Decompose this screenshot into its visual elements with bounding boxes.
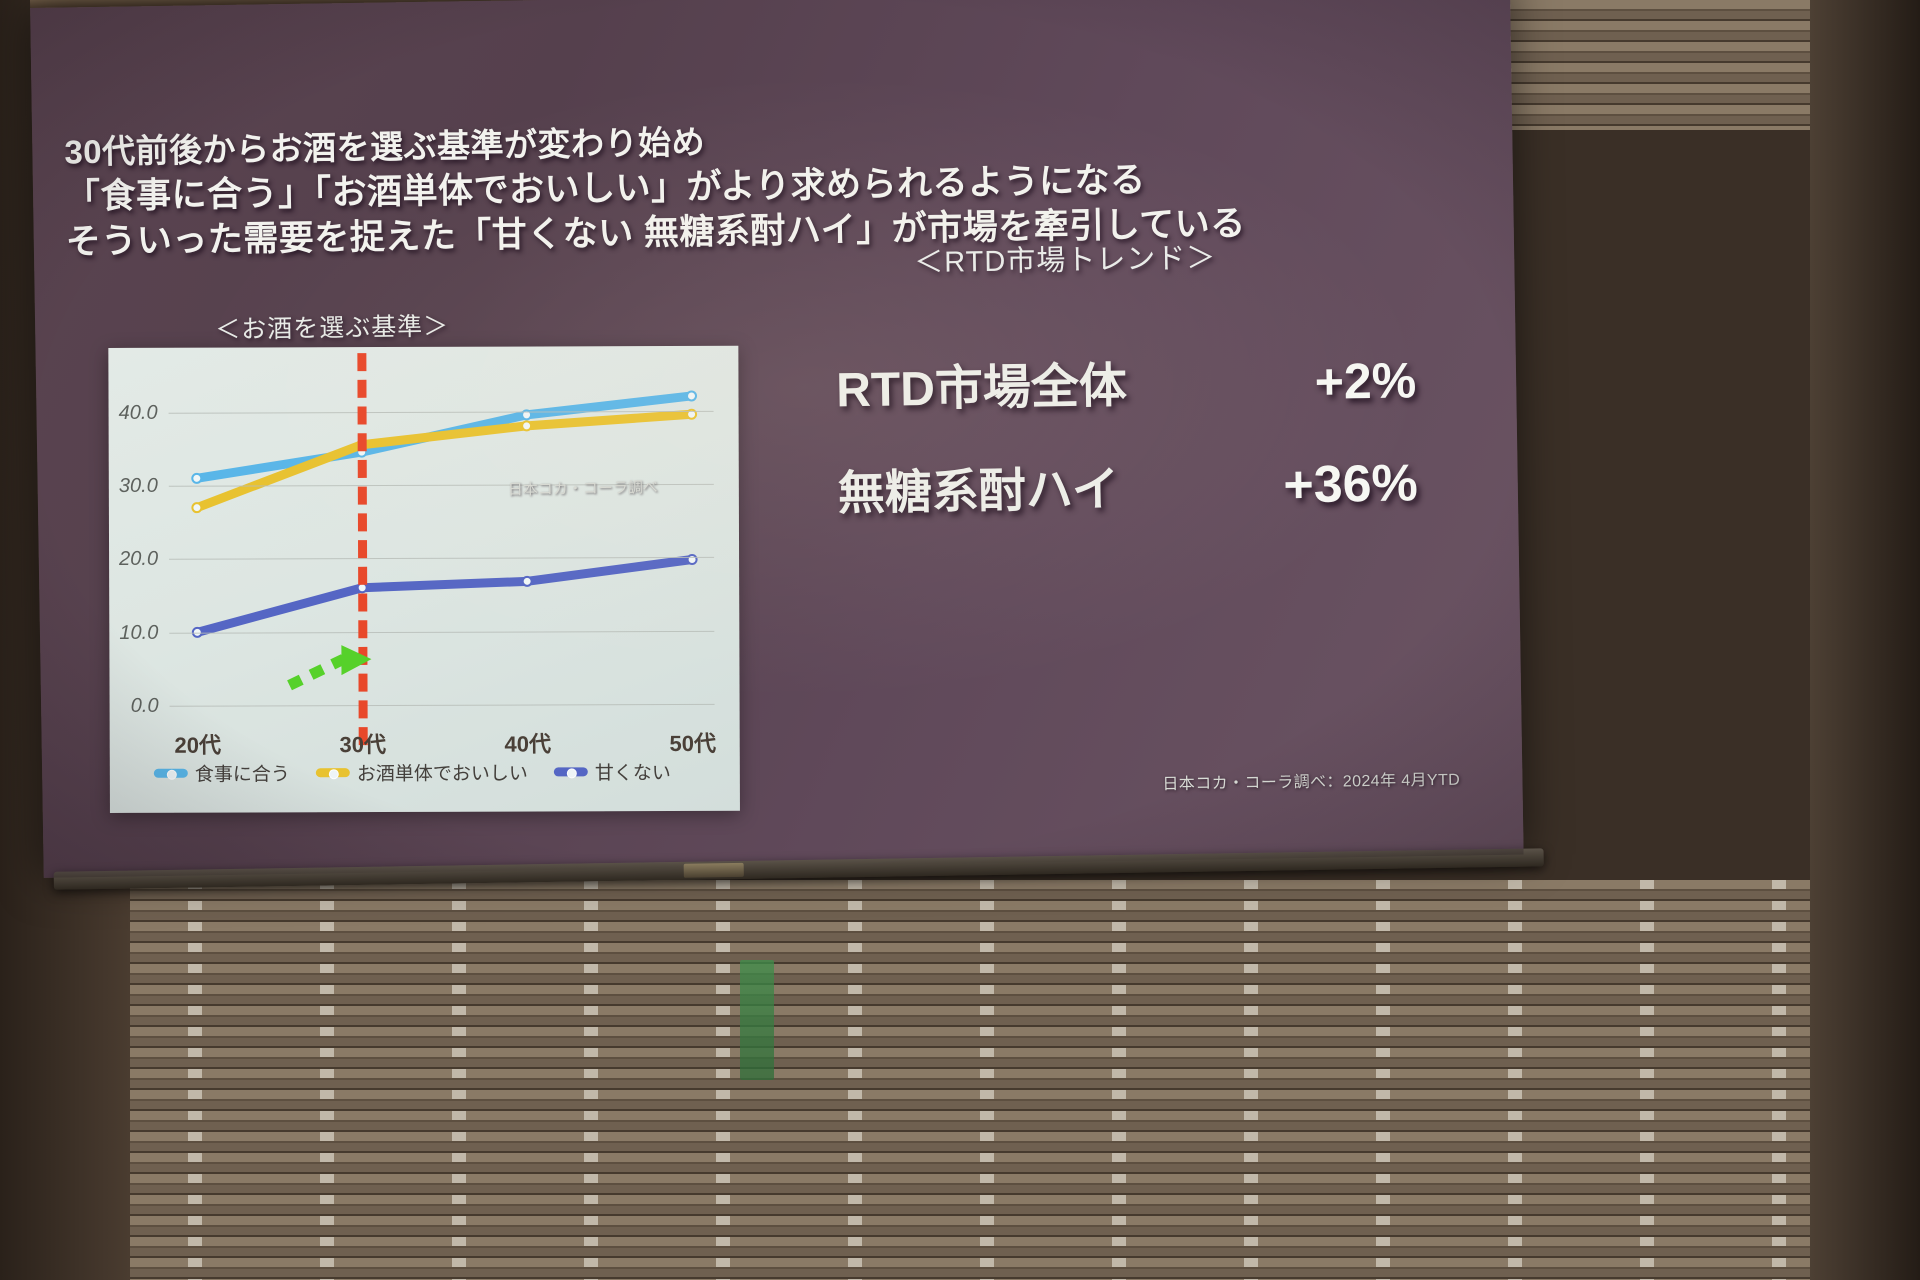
chart-data-point [522,421,531,430]
legend-label: お酒単体でおいしい [357,759,528,787]
y-axis-tick-label: 10.0 [119,621,158,644]
presentation-slide: 30代前後からお酒を選ぶ基準が変わり始め 「食事に合う」「お酒単体でおいしい」が… [30,0,1523,878]
chart-data-point [192,474,201,483]
projection-screen: 30代前後からお酒を選ぶ基準が変わり始め 「食事に合う」「お酒単体でおいしい」が… [30,0,1523,878]
chart-title: ＜お酒を選ぶ基準＞ [215,306,450,346]
y-axis-tick-label: 0.0 [131,695,159,718]
y-axis-tick-label: 30.0 [119,475,158,498]
x-axis-tick-label: 20代 [174,728,221,760]
x-axis-tick-label: 30代 [339,727,386,759]
x-axis-tick-label: 50代 [669,726,716,758]
legend-item[interactable]: 甘くない [554,758,671,785]
rtd-trend-list: RTD市場全体 +2% 無糖系酎ハイ +36% [836,341,1459,558]
wall-right [1810,0,1920,1280]
chart-legend: 食事に合うお酒単体でおいしい甘くない [154,758,734,787]
x-axis-tick-label: 40代 [504,726,551,758]
chart-series-layer [168,374,714,706]
chart-plot-area: 0.010.020.030.040.0 20代30代40代50代 [168,374,714,706]
source-note-right: 日本コカ・コーラ調べ：2024年 4月YTD [1162,766,1460,795]
legend-swatch-icon [554,767,588,776]
y-axis-tick-label: 20.0 [119,548,158,571]
growth-arrow-icon [287,643,379,691]
y-axis-tick-label: 40.0 [119,401,158,424]
rtd-trend-heading: ＜RTD市場トレンド＞ [914,234,1217,281]
rtd-sugarfree-label: 無糖系酎ハイ [837,449,1188,523]
legend-item[interactable]: お酒単体でおいしい [316,759,528,787]
legend-swatch-icon [154,769,188,778]
chart-data-point [192,503,201,512]
rtd-row-total: RTD市場全体 +2% [836,341,1457,421]
rtd-sugarfree-value: +36% [1187,453,1418,517]
legend-label: 食事に合う [195,759,290,786]
chart-data-point [687,391,696,400]
window-blinds-bottom [0,880,1920,1280]
legend-label: 甘くない [595,758,671,785]
chart-card: 0.010.020.030.040.0 20代30代40代50代 [108,346,740,813]
legend-item[interactable]: 食事に合う [154,759,290,786]
projection-screen-assembly: 30代前後からお酒を選ぶ基準が変わり始め 「食事に合う」「お酒単体でおいしい」が… [30,0,1544,900]
chart-line-甘くない [197,559,692,632]
rtd-total-value: +2% [1186,351,1417,413]
exit-sign-glow [740,960,774,1080]
source-note-chart: 日本コカ・コーラ調べ [508,476,658,499]
rtd-row-sugarfree: 無糖系酎ハイ +36% [837,445,1458,524]
chart-data-point [523,577,532,586]
rtd-total-label: RTD市場全体 [836,345,1187,420]
legend-swatch-icon [316,768,350,777]
